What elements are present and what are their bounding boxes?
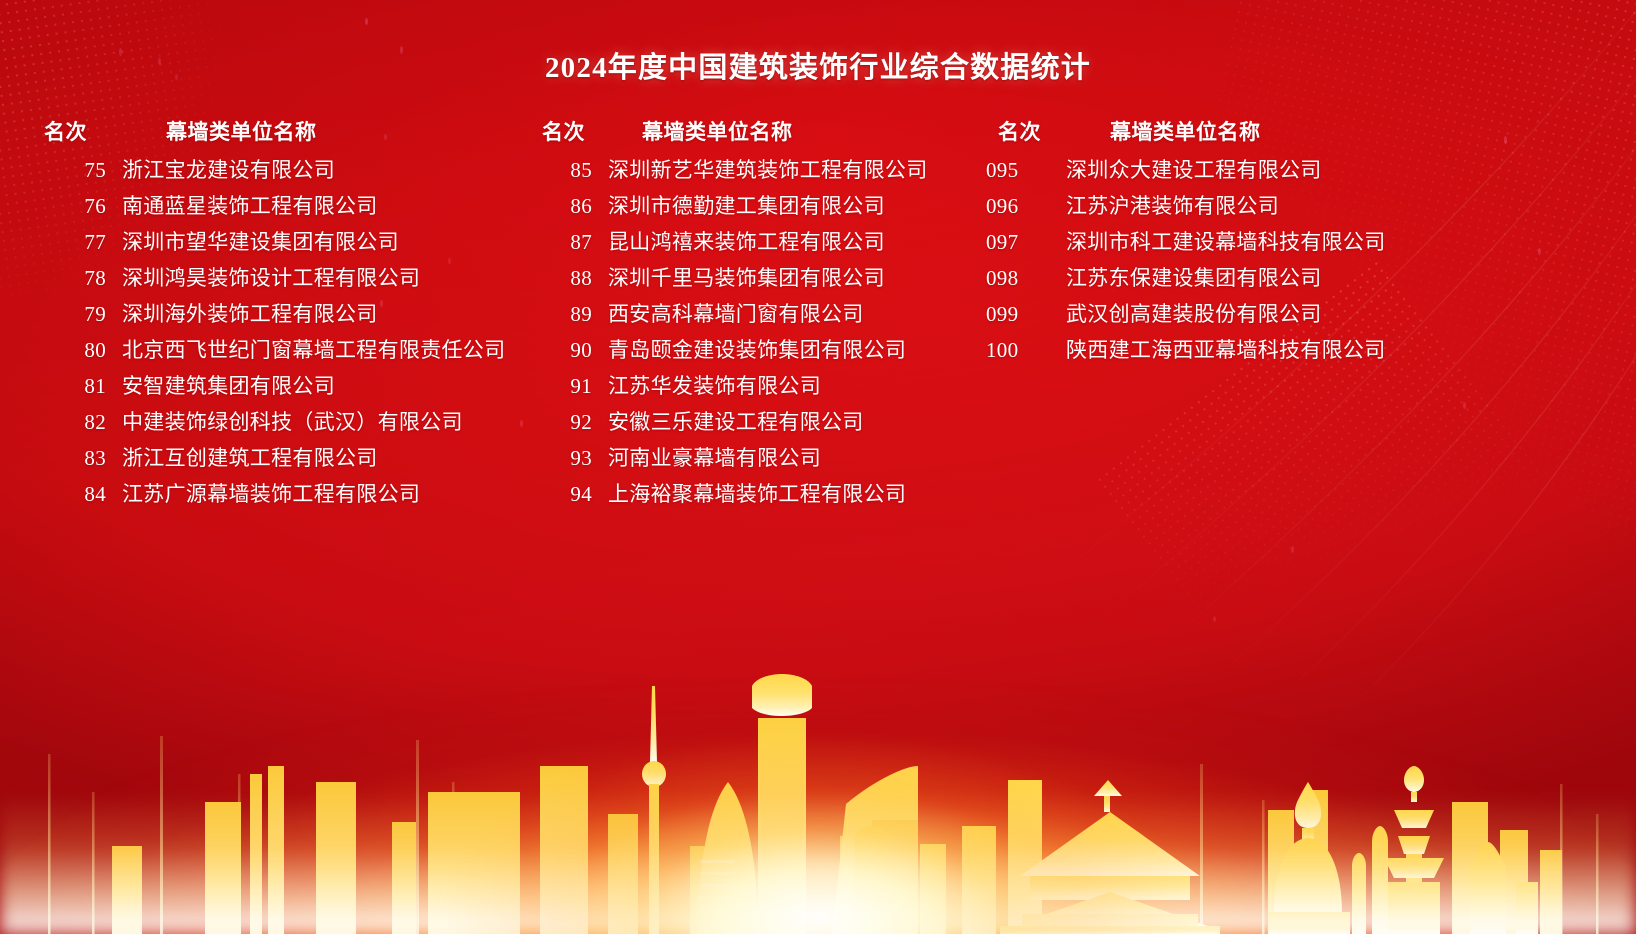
table-row: 098 江苏东保建设集团有限公司 [984, 262, 1612, 298]
row-rank: 099 [984, 302, 1056, 327]
row-rank: 92 [530, 410, 592, 435]
table-row: 92 安徽三乐建设工程有限公司 [530, 406, 976, 442]
row-rank: 86 [530, 194, 592, 219]
row-company-name: 深圳海外装饰工程有限公司 [106, 298, 506, 328]
table-row: 097 深圳市科工建设幕墙科技有限公司 [984, 226, 1612, 262]
table-row: 77 深圳市望华建设集团有限公司 [44, 226, 506, 262]
table-row: 80 北京西飞世纪门窗幕墙工程有限责任公司 [44, 334, 506, 370]
ranking-column-1: 名次 幕墙类单位名称 75 浙江宝龙建设有限公司 76 南通蓝星装饰工程有限公司… [0, 116, 506, 514]
table-row: 82 中建装饰绿创科技（武汉）有限公司 [44, 406, 506, 442]
table-row: 90 青岛颐金建设装饰集团有限公司 [530, 334, 976, 370]
column-header: 名次 幕墙类单位名称 [44, 116, 506, 146]
table-row: 83 浙江互创建筑工程有限公司 [44, 442, 506, 478]
row-company-name: 深圳新艺华建筑装饰工程有限公司 [592, 154, 976, 184]
table-row: 096 江苏沪港装饰有限公司 [984, 190, 1612, 226]
row-company-name: 浙江互创建筑工程有限公司 [106, 442, 506, 472]
row-rank: 91 [530, 374, 592, 399]
row-rank: 75 [44, 158, 106, 183]
row-rank: 76 [44, 194, 106, 219]
row-rank: 90 [530, 338, 592, 363]
row-company-name: 深圳市科工建设幕墙科技有限公司 [1056, 226, 1612, 256]
table-row: 099 武汉创高建装股份有限公司 [984, 298, 1612, 334]
table-row: 93 河南业豪幕墙有限公司 [530, 442, 976, 478]
row-company-name: 青岛颐金建设装饰集团有限公司 [592, 334, 976, 364]
table-row: 75 浙江宝龙建设有限公司 [44, 154, 506, 190]
row-rank: 097 [984, 230, 1056, 255]
poster-content: 2024年度中国建筑装饰行业综合数据统计 名次 幕墙类单位名称 75 浙江宝龙建… [0, 0, 1636, 934]
row-rank: 81 [44, 374, 106, 399]
page-title: 2024年度中国建筑装饰行业综合数据统计 [0, 44, 1636, 86]
row-company-name: 深圳鸿昊装饰设计工程有限公司 [106, 262, 506, 292]
table-row: 88 深圳千里马装饰集团有限公司 [530, 262, 976, 298]
table-row: 86 深圳市德勤建工集团有限公司 [530, 190, 976, 226]
header-rank: 名次 [44, 116, 124, 146]
row-company-name: 浙江宝龙建设有限公司 [106, 154, 506, 184]
row-company-name: 中建装饰绿创科技（武汉）有限公司 [106, 406, 506, 436]
ranking-column-3: 名次 幕墙类单位名称 095 深圳众大建设工程有限公司 096 江苏沪港装饰有限… [976, 116, 1612, 514]
table-row: 76 南通蓝星装饰工程有限公司 [44, 190, 506, 226]
row-company-name: 江苏华发装饰有限公司 [592, 370, 976, 400]
table-row: 89 西安高科幕墙门窗有限公司 [530, 298, 976, 334]
row-company-name: 安徽三乐建设工程有限公司 [592, 406, 976, 436]
row-rank: 098 [984, 266, 1056, 291]
row-rank: 095 [984, 158, 1056, 183]
row-company-name: 昆山鸿禧来装饰工程有限公司 [592, 226, 976, 256]
row-company-name: 西安高科幕墙门窗有限公司 [592, 298, 976, 328]
row-rank: 87 [530, 230, 592, 255]
row-company-name: 江苏东保建设集团有限公司 [1056, 262, 1612, 292]
header-name: 幕墙类单位名称 [124, 116, 506, 146]
header-rank: 名次 [984, 116, 1078, 146]
table-row: 095 深圳众大建设工程有限公司 [984, 154, 1612, 190]
row-company-name: 深圳市望华建设集团有限公司 [106, 226, 506, 256]
row-company-name: 上海裕聚幕墙装饰工程有限公司 [592, 478, 976, 508]
row-company-name: 深圳千里马装饰集团有限公司 [592, 262, 976, 292]
row-rank: 94 [530, 482, 592, 507]
row-rank: 78 [44, 266, 106, 291]
table-row: 79 深圳海外装饰工程有限公司 [44, 298, 506, 334]
row-rank: 85 [530, 158, 592, 183]
row-rank: 80 [44, 338, 106, 363]
row-company-name: 江苏沪港装饰有限公司 [1056, 190, 1612, 220]
row-company-name: 江苏广源幕墙装饰工程有限公司 [106, 478, 506, 508]
table-row: 81 安智建筑集团有限公司 [44, 370, 506, 406]
header-name: 幕墙类单位名称 [1078, 116, 1612, 146]
table-row: 78 深圳鸿昊装饰设计工程有限公司 [44, 262, 506, 298]
row-company-name: 深圳市德勤建工集团有限公司 [592, 190, 976, 220]
ranking-column-2: 名次 幕墙类单位名称 85 深圳新艺华建筑装饰工程有限公司 86 深圳市德勤建工… [506, 116, 976, 514]
row-rank: 82 [44, 410, 106, 435]
table-row: 84 江苏广源幕墙装饰工程有限公司 [44, 478, 506, 514]
ranking-table: 名次 幕墙类单位名称 75 浙江宝龙建设有限公司 76 南通蓝星装饰工程有限公司… [0, 116, 1636, 514]
header-rank: 名次 [530, 116, 604, 146]
row-company-name: 河南业豪幕墙有限公司 [592, 442, 976, 472]
table-row: 91 江苏华发装饰有限公司 [530, 370, 976, 406]
row-rank: 84 [44, 482, 106, 507]
row-company-name: 北京西飞世纪门窗幕墙工程有限责任公司 [106, 334, 506, 364]
row-company-name: 武汉创高建装股份有限公司 [1056, 298, 1612, 328]
row-rank: 93 [530, 446, 592, 471]
header-name: 幕墙类单位名称 [604, 116, 976, 146]
row-rank: 88 [530, 266, 592, 291]
row-company-name: 深圳众大建设工程有限公司 [1056, 154, 1612, 184]
row-company-name: 南通蓝星装饰工程有限公司 [106, 190, 506, 220]
row-rank: 89 [530, 302, 592, 327]
row-rank: 83 [44, 446, 106, 471]
column-header: 名次 幕墙类单位名称 [984, 116, 1612, 146]
row-rank: 79 [44, 302, 106, 327]
column-header: 名次 幕墙类单位名称 [530, 116, 976, 146]
row-company-name: 安智建筑集团有限公司 [106, 370, 506, 400]
row-rank: 096 [984, 194, 1056, 219]
table-row: 85 深圳新艺华建筑装饰工程有限公司 [530, 154, 976, 190]
table-row: 94 上海裕聚幕墙装饰工程有限公司 [530, 478, 976, 514]
table-row: 100 陕西建工海西亚幕墙科技有限公司 [984, 334, 1612, 370]
row-company-name: 陕西建工海西亚幕墙科技有限公司 [1056, 334, 1612, 364]
poster-canvas: 2024年度中国建筑装饰行业综合数据统计 名次 幕墙类单位名称 75 浙江宝龙建… [0, 0, 1636, 934]
row-rank: 100 [984, 338, 1056, 363]
row-rank: 77 [44, 230, 106, 255]
table-row: 87 昆山鸿禧来装饰工程有限公司 [530, 226, 976, 262]
